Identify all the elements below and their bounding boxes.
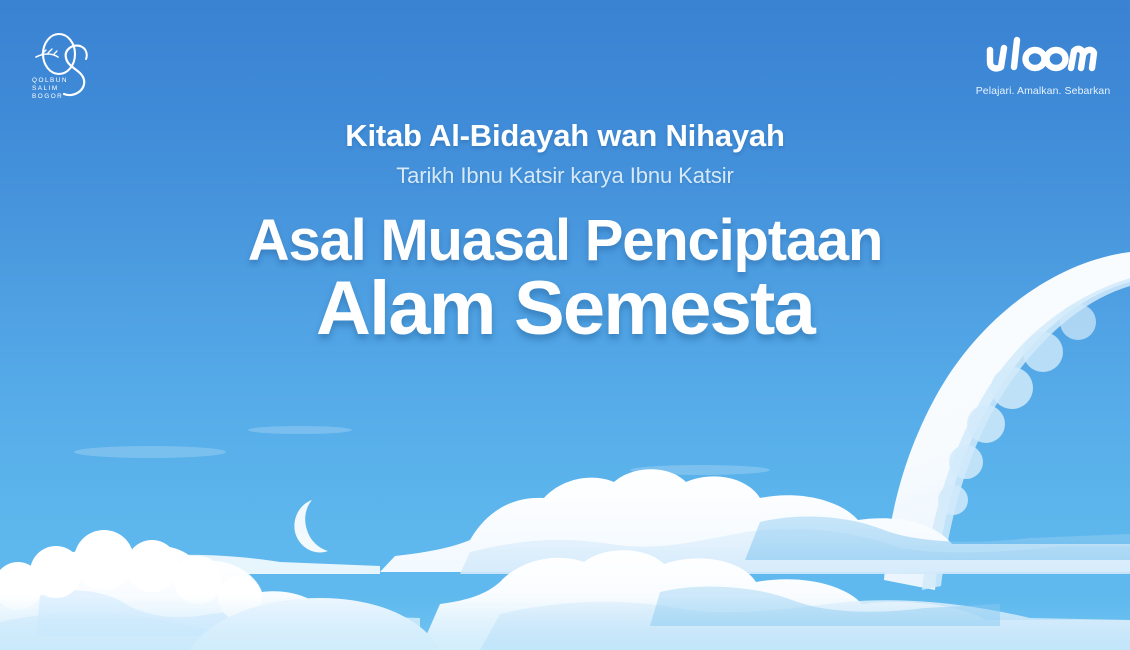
title-block: Kitab Al-Bidayah wan Nihayah Tarikh Ibnu… [0, 118, 1130, 348]
slide-canvas: QOLBUN SALIM BOGOR Pelajari. Amalkan. Se… [0, 0, 1130, 650]
uloom-logo: Pelajari. Amalkan. Sebarkan [968, 34, 1118, 97]
logo-line-3: BOGOR [32, 93, 63, 100]
qolbun-salim-monogram-icon: QOLBUN SALIM BOGOR [24, 24, 110, 110]
qolbun-salim-logo: QOLBUN SALIM BOGOR [24, 24, 110, 110]
logo-line-1: QOLBUN [32, 77, 68, 84]
uloom-tagline: Pelajari. Amalkan. Sebarkan [968, 85, 1118, 97]
book-subtitle: Tarikh Ibnu Katsir karya Ibnu Katsir [40, 163, 1090, 189]
book-title: Kitab Al-Bidayah wan Nihayah [40, 118, 1090, 154]
cloud-wisps [74, 426, 770, 475]
logo-line-2: SALIM [32, 85, 59, 92]
crescent-moon-icon [294, 500, 328, 552]
headline-line-1: Asal Muasal Penciptaan [40, 211, 1090, 270]
uloom-wordmark-icon [980, 34, 1106, 78]
bottom-haze [0, 596, 1130, 650]
headline: Asal Muasal Penciptaan Alam Semesta [40, 211, 1090, 348]
headline-line-2: Alam Semesta [40, 270, 1090, 348]
